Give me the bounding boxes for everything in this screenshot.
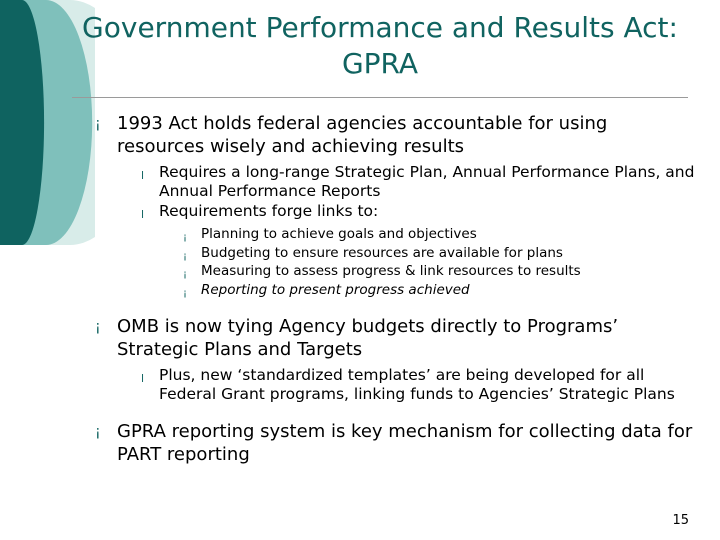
bullet-item-3: ¡ GPRA reporting system is key mechanism…	[72, 420, 696, 466]
bullet-marker-level3-icon: ¡	[183, 285, 187, 303]
bullet-text-1-2-4: Reporting to present progress achieved	[201, 282, 470, 298]
bullet-item-1-2-2: ¡ Budgeting to ensure resources are avai…	[159, 245, 696, 263]
bullet-marker-level2-icon: l	[141, 205, 144, 224]
spacer	[72, 301, 696, 313]
bullet-text-2-1: Plus, new ‘standardized templates’ are b…	[159, 366, 675, 403]
bullet-item-1-2-3: ¡ Measuring to assess progress & link re…	[159, 263, 696, 281]
bullet-item-2: ¡ OMB is now tying Agency budgets direct…	[72, 315, 696, 404]
bullet-text-3: GPRA reporting system is key mechanism f…	[117, 420, 696, 466]
bullet-list-level1: ¡ 1993 Act holds federal agencies accoun…	[72, 112, 696, 466]
bullet-text-1-2-3: Measuring to assess progress & link reso…	[201, 263, 581, 279]
bullet-text-1-2-2: Budgeting to ensure resources are availa…	[201, 245, 563, 261]
bullet-text-1: 1993 Act holds federal agencies accounta…	[117, 112, 696, 158]
slide: Government Performance and Results Act: …	[0, 0, 720, 540]
bullet-item-1-2-1: ¡ Planning to achieve goals and objectiv…	[159, 226, 696, 244]
bullet-text-2: OMB is now tying Agency budgets directly…	[117, 315, 696, 361]
bullet-marker-level2-icon: l	[141, 369, 144, 388]
bullet-list-level2-a: l Requires a long-range Strategic Plan, …	[117, 163, 696, 299]
spacer	[72, 406, 696, 418]
title-divider	[72, 97, 688, 98]
bullet-marker-level1-icon: ¡	[95, 113, 101, 136]
bullet-item-1-2: l Requirements forge links to: ¡ Plannin…	[117, 202, 696, 299]
bullet-list-level3: ¡ Planning to achieve goals and objectiv…	[159, 226, 696, 299]
slide-title: Government Performance and Results Act: …	[72, 10, 688, 82]
bullet-item-2-1: l Plus, new ‘standardized templates’ are…	[117, 366, 696, 404]
bullet-item-1: ¡ 1993 Act holds federal agencies accoun…	[72, 112, 696, 299]
bullet-marker-level1-icon: ¡	[95, 316, 101, 339]
bullet-marker-level1-icon: ¡	[95, 421, 101, 444]
bullet-list-level2-b: l Plus, new ‘standardized templates’ are…	[117, 366, 696, 404]
bullet-item-1-1: l Requires a long-range Strategic Plan, …	[117, 163, 696, 201]
slide-body: ¡ 1993 Act holds federal agencies accoun…	[72, 112, 696, 468]
bullet-marker-level2-icon: l	[141, 166, 144, 185]
bullet-text-1-2-1: Planning to achieve goals and objectives	[201, 226, 477, 242]
bullet-item-1-2-4: ¡ Reporting to present progress achieved	[159, 282, 696, 300]
bullet-text-1-2: Requirements forge links to:	[159, 202, 378, 220]
bullet-text-1-1: Requires a long-range Strategic Plan, An…	[159, 163, 694, 200]
page-number: 15	[672, 513, 689, 528]
